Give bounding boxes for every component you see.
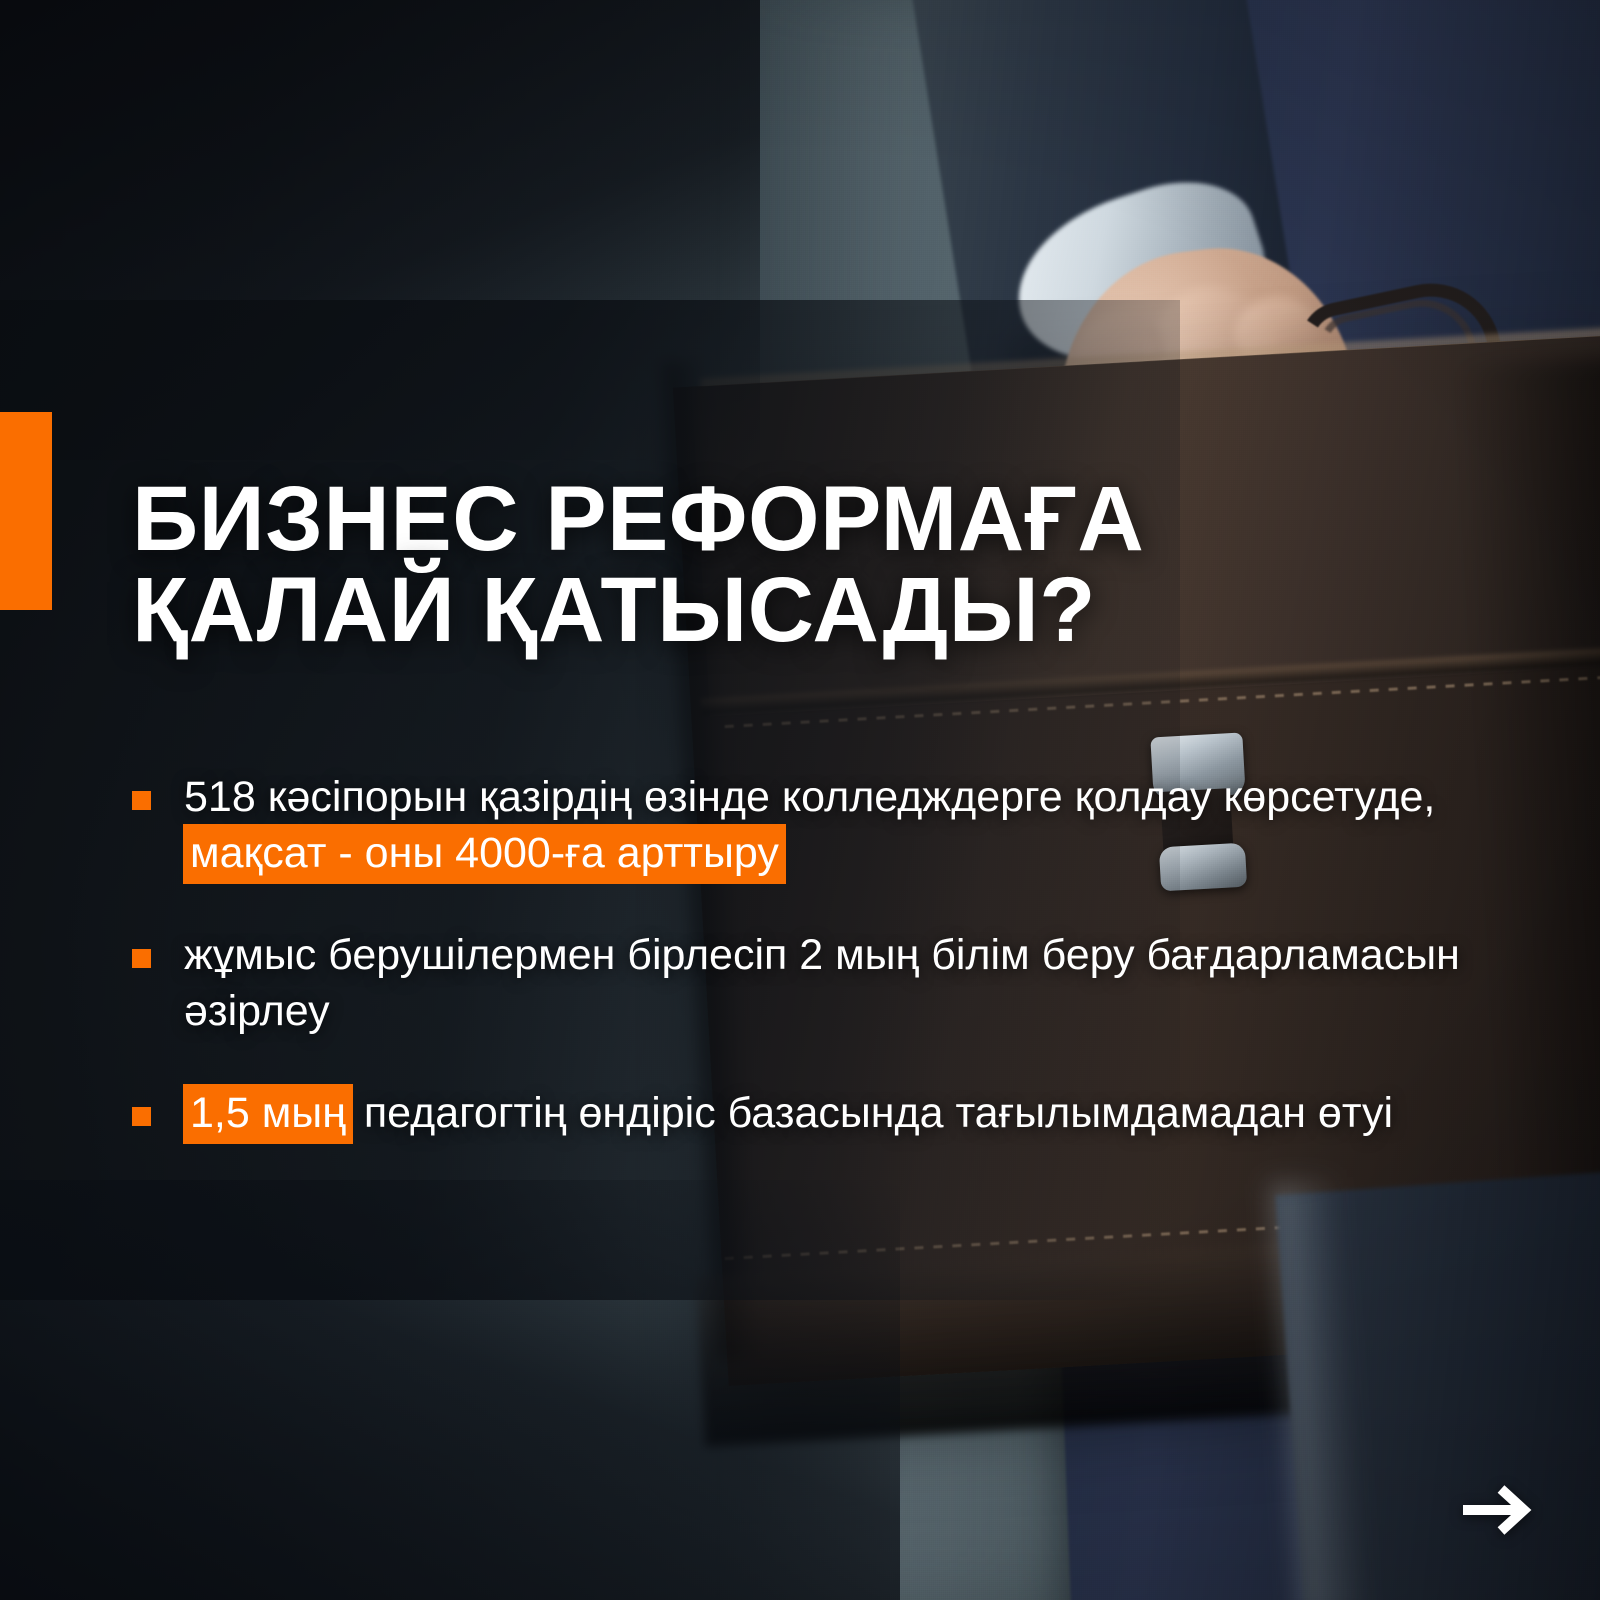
list-item: 1,5 мың педагогтің өндіріс базасында тағ… [132,1086,1462,1142]
bullet-segment-plain: жұмыс берушілермен бірлесіп 2 мың білім … [184,931,1460,1035]
bullet-marker-icon [132,791,151,810]
bullet-text: жұмыс берушілермен бірлесіп 2 мың білім … [184,928,1462,1040]
page-title: БИЗНЕС РЕФОРМАҒА ҚАЛАЙ ҚАТЫСАДЫ? [132,474,1272,656]
next-slide-button[interactable] [1460,1480,1536,1540]
bullet-segment-highlight: 1,5 мың [183,1084,353,1144]
infographic-slide: БИЗНЕС РЕФОРМАҒА ҚАЛАЙ ҚАТЫСАДЫ? 518 кәс… [0,0,1600,1600]
list-item: 518 кәсіпорын қазірдің өзінде колледждер… [132,770,1462,882]
bullet-text: 518 кәсіпорын қазірдің өзінде колледждер… [184,770,1462,882]
bullet-text: 1,5 мың педагогтің өндіріс базасында тағ… [184,1086,1393,1142]
bullet-segment-highlight: мақсат - оны 4000-ға арттыру [183,824,786,884]
text-scrim-bottom [0,1180,900,1600]
list-item: жұмыс берушілермен бірлесіп 2 мың білім … [132,928,1462,1040]
bullet-segment-plain: педагогтің өндіріс базасында тағылымдама… [352,1089,1393,1137]
accent-bar [0,412,52,610]
bullet-list: 518 кәсіпорын қазірдің өзінде колледждер… [132,770,1462,1141]
bullet-marker-icon [132,1107,151,1126]
bullet-segment-plain: 518 кәсіпорын қазірдің өзінде колледждер… [184,773,1435,821]
arrow-right-icon [1461,1481,1535,1539]
bullet-marker-icon [132,949,151,968]
